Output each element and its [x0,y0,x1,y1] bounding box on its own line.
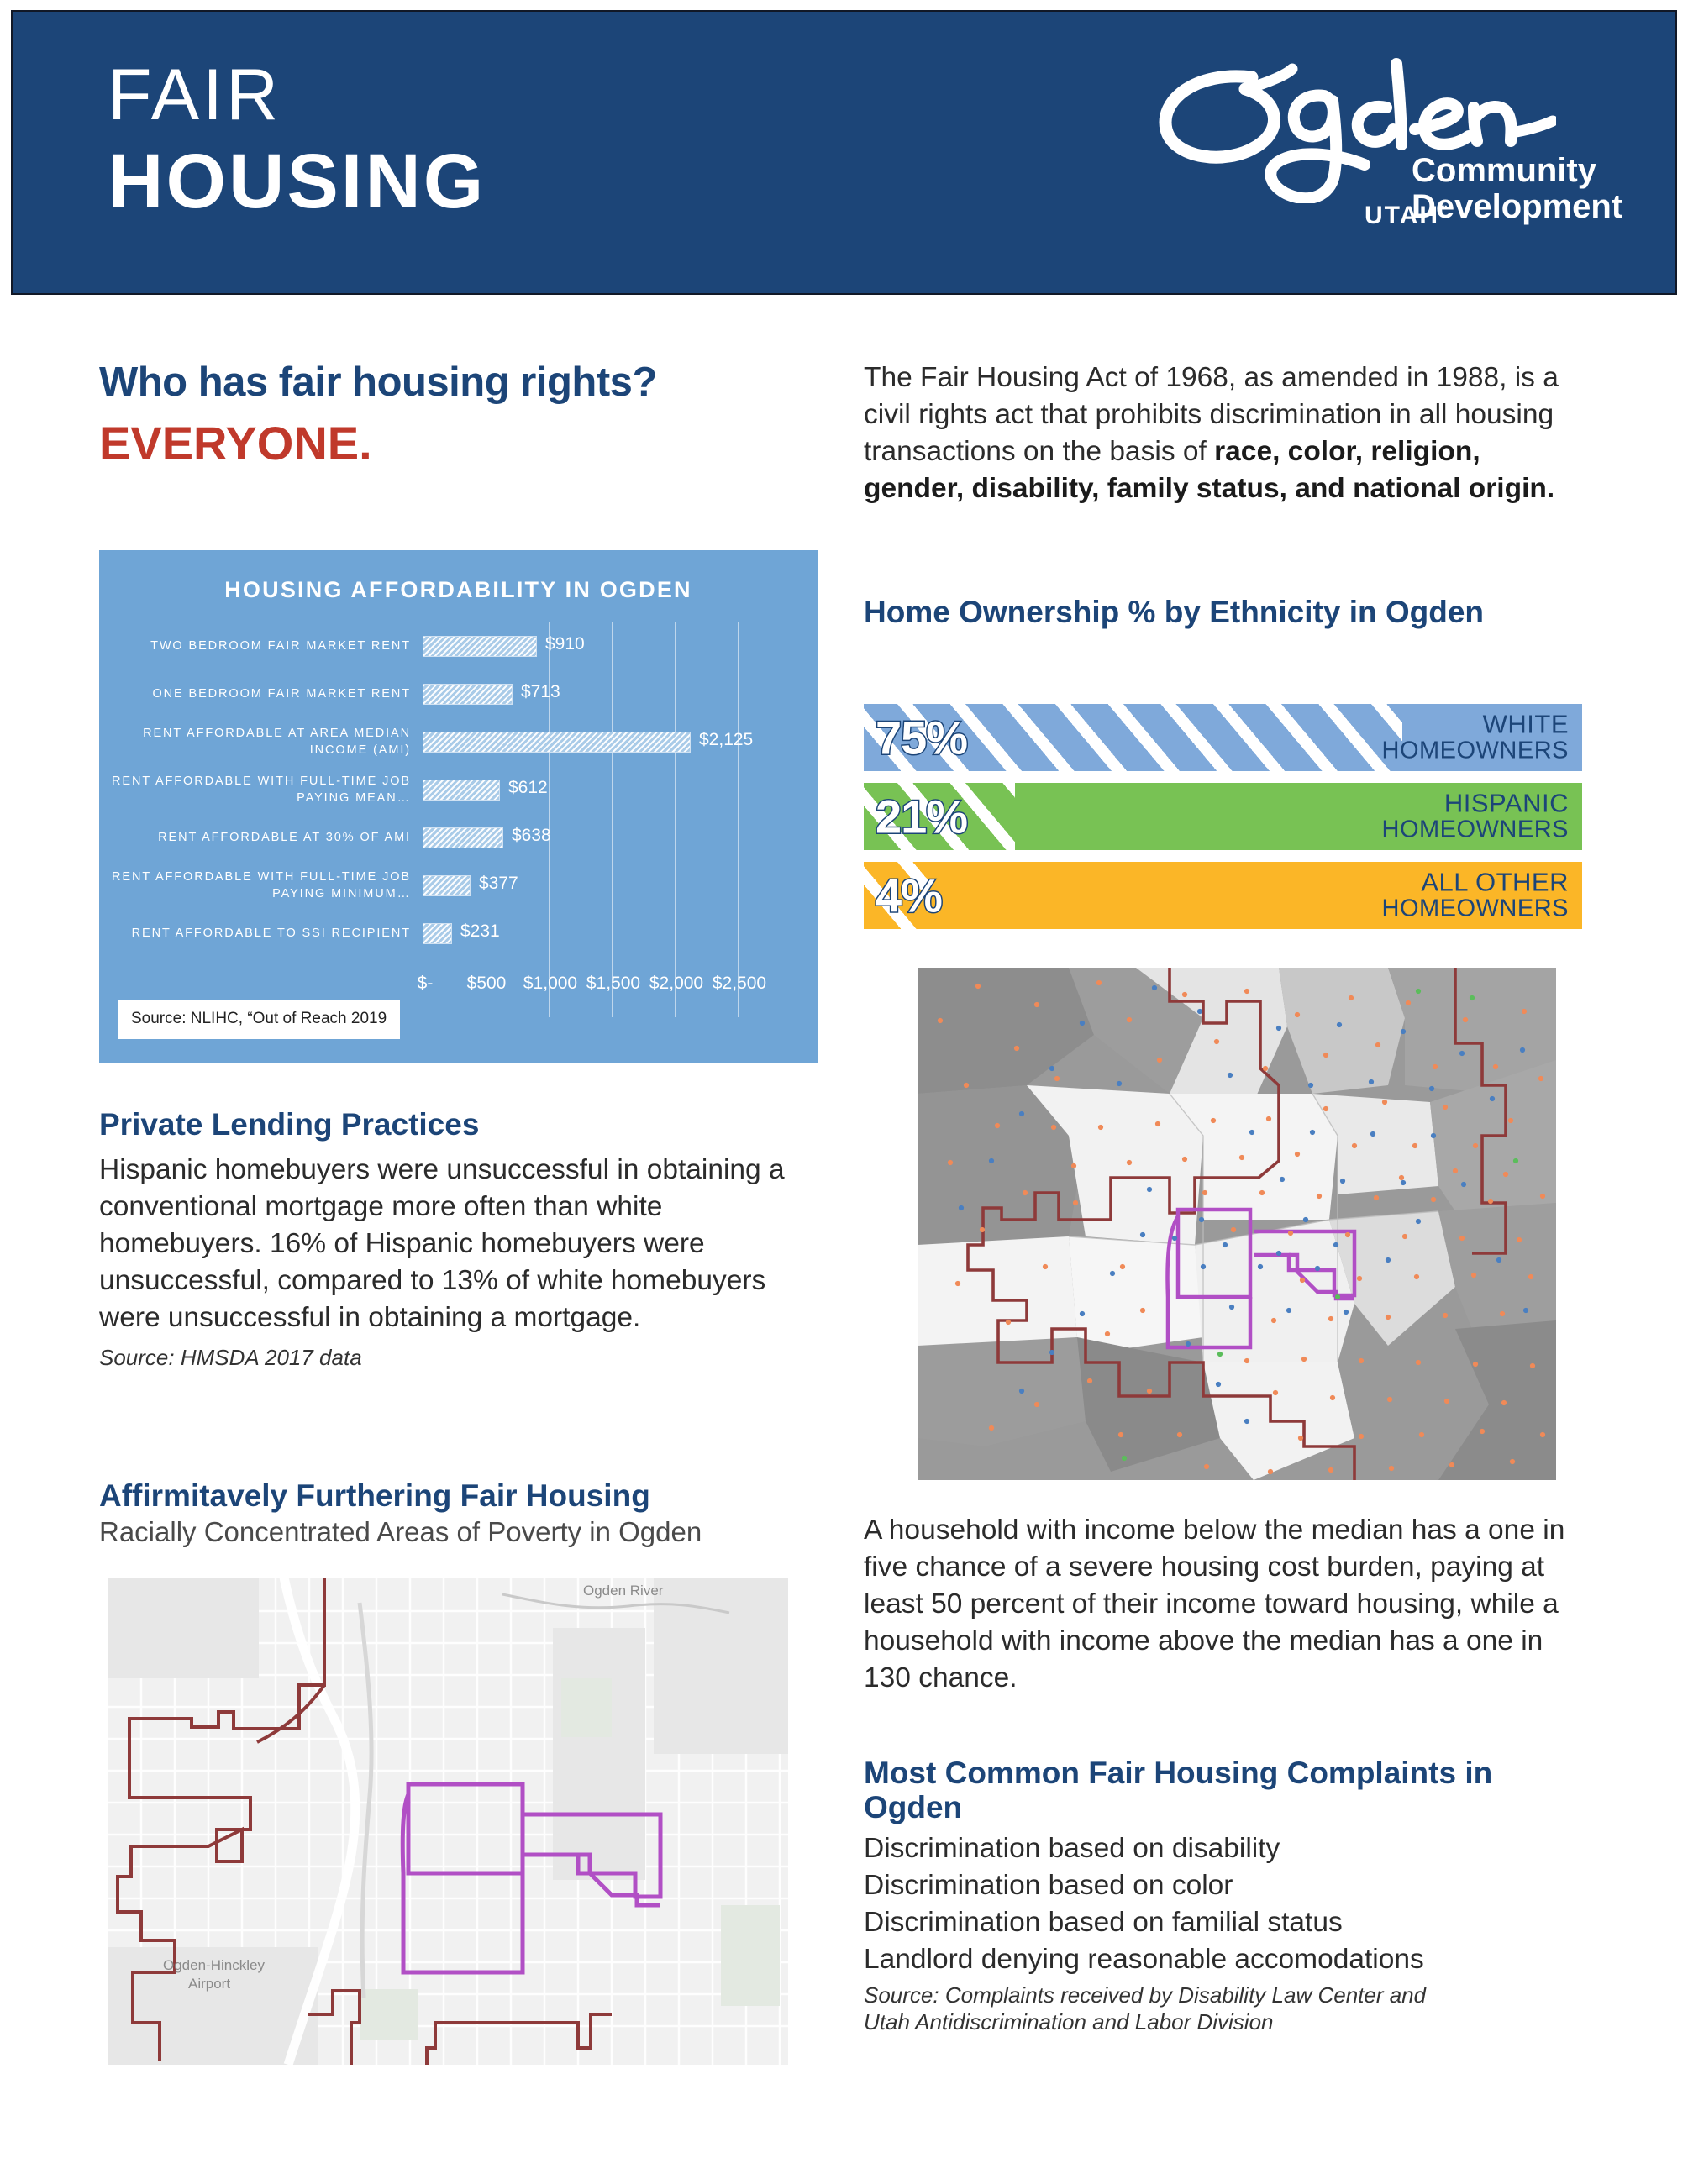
fair-housing-act-intro: The Fair Housing Act of 1968, as amended… [864,360,1586,507]
home-ownership-chart: 75% WHITE HOMEOWNERS 21% HISPANIC HOMEOW… [864,704,1582,941]
private-lending-section: Private Lending Practices Hispanic homeb… [99,1107,809,1372]
chart-row: RENT AFFORDABLE AT AREA MEDIAN INCOME (A… [99,718,818,766]
racially-concentrated-poverty-map[interactable]: Ogden-Hinckley Airport Ogden River [108,1578,788,2065]
list-item: Discrimination based on disability [864,1830,1595,1867]
chart-value-label: $231 [460,921,500,942]
complaints-heading: Most Common Fair Housing Complaints in O… [864,1756,1595,1825]
ownership-label-all-other-line2: HOMEOWNERS [1382,896,1570,922]
home-ownership-heading: Home Ownership % by Ethnicity in Ogden [864,595,1502,629]
complaints-source-line1: Source: Complaints received by Disabilit… [864,1982,1595,2009]
intro-paragraph: The Fair Housing Act of 1968, as amended… [864,360,1586,507]
cost-burden-body: A household with income below the median… [864,1512,1586,1696]
chart-value-label: $713 [521,682,560,702]
chart-row: TWO BEDROOM FAIR MARKET RENT $910 [99,622,818,670]
header-title-line2: HOUSING [108,143,486,220]
page-header: FAIR HOUSING [11,10,1677,295]
chart-row: RENT AFFORDABLE TO SSI RECIPIENT $231 [99,910,818,958]
ogden-community-development-logo: UTAH™ Community Development [1144,52,1615,262]
ownership-label-white: WHITE HOMEOWNERS [1382,711,1570,765]
chart-category-label: RENT AFFORDABLE AT 30% OF AMI [99,830,423,847]
logo-dept-line1: Community [1412,153,1622,189]
ownership-bar-all-other: 4% ALL OTHER HOMEOWNERS [864,862,1582,929]
rights-question: Who has fair housing rights? [99,361,813,404]
affh-subheading: Racially Concentrated Areas of Poverty i… [99,1516,822,1548]
chart-xtick-label: $- [418,974,434,994]
ownership-pct-white: 75% [876,711,967,765]
header-title-line1: FAIR [108,59,486,131]
chart-category-label: TWO BEDROOM FAIR MARKET RENT [99,638,423,655]
complaints-source-line2: Utah Antidiscrimination and Labor Divisi… [864,2009,1595,2036]
chart-value-label: $2,125 [699,730,753,750]
home-ownership-heading-block: Home Ownership % by Ethnicity in Ogden [864,595,1502,629]
chart-xtick-label: $500 [467,974,507,994]
private-lending-heading: Private Lending Practices [99,1107,809,1142]
chart-xtick-label: $1,000 [523,974,577,994]
chart-category-label: RENT AFFORDABLE TO SSI RECIPIENT [99,926,423,942]
map-label-airport: Ogden-Hinckley [163,1957,265,1974]
chart-bar [423,923,452,944]
infographic-page: FAIR HOUSING [0,0,1688,2184]
chart-row: RENT AFFORDABLE WITH FULL-TIME JOB PAYIN… [99,766,818,814]
chart-row: RENT AFFORDABLE WITH FULL-TIME JOB PAYIN… [99,862,818,910]
chart-value-label: $612 [508,778,548,798]
chart-bar [423,732,691,753]
chart-bar [423,684,513,705]
chart-xtick-label: $2,500 [713,974,766,994]
chart-category-label: ONE BEDROOM FAIR MARKET RENT [99,686,423,703]
header-title-block: FAIR HOUSING [108,59,486,220]
ownership-label-all-other: ALL OTHER HOMEOWNERS [1382,869,1570,923]
map-label-river: Ogden River [583,1583,663,1599]
cost-burden-section: A household with income below the median… [864,1512,1586,1696]
chart-row: ONE BEDROOM FAIR MARKET RENT $713 [99,670,818,718]
housing-affordability-chart: HOUSING AFFORDABILITY IN OGDEN TWO BEDRO… [99,550,818,1063]
chart-category-label: RENT AFFORDABLE WITH FULL-TIME JOB PAYIN… [99,869,423,902]
chart-x-axis: $- $500 $1,000 $1,500 $2,000 $2,500 [423,974,818,1007]
chart-bar [423,827,503,848]
chart-bar [423,636,537,657]
ownership-label-hispanic-line1: HISPANIC [1382,790,1570,817]
map-label-airport-line2: Airport [188,1976,230,1992]
list-item: Landlord denying reasonable accomodation… [864,1941,1595,1978]
map-right-graphic [918,968,1556,1480]
ownership-pct-all-other: 4% [876,869,942,923]
list-item: Discrimination based on familial status [864,1904,1595,1941]
ownership-bar-hispanic: 21% HISPANIC HOMEOWNERS [864,783,1582,850]
chart-title: HOUSING AFFORDABILITY IN OGDEN [99,550,818,603]
ownership-bar-white: 75% WHITE HOMEOWNERS [864,704,1582,771]
ownership-label-hispanic-line2: HOMEOWNERS [1382,817,1570,843]
chart-bar [423,875,471,896]
chart-value-label: $638 [512,826,551,846]
ownership-label-white-line2: HOMEOWNERS [1382,738,1570,764]
chart-rows: TWO BEDROOM FAIR MARKET RENT $910 ONE BE… [99,622,818,958]
chart-source-note: Source: NLIHC, “Out of Reach 2019 [118,1000,400,1039]
list-item: Discrimination based on color [864,1867,1595,1904]
rights-question-block: Who has fair housing rights? EVERYONE. [99,361,813,470]
chart-row: RENT AFFORDABLE AT 30% OF AMI $638 [99,814,818,862]
chart-plot-area: TWO BEDROOM FAIR MARKET RENT $910 ONE BE… [99,622,818,1017]
ownership-label-all-other-line1: ALL OTHER [1382,869,1570,896]
chart-xtick-label: $2,000 [649,974,703,994]
affh-heading: Affirmitavely Furthering Fair Housing [99,1478,822,1513]
chart-category-label: RENT AFFORDABLE WITH FULL-TIME JOB PAYIN… [99,774,423,806]
chart-category-label: RENT AFFORDABLE AT AREA MEDIAN INCOME (A… [99,726,423,759]
chart-bar [423,780,500,801]
affh-section-heading: Affirmitavely Furthering Fair Housing Ra… [99,1478,822,1548]
housing-cost-burden-dot-map[interactable] [918,968,1556,1480]
private-lending-source: Source: HMSDA 2017 data [99,1345,809,1372]
logo-department-text: Community Development [1412,153,1622,225]
complaints-section: Most Common Fair Housing Complaints in O… [864,1756,1595,2036]
complaints-list: Discrimination based on disability Discr… [864,1830,1595,1978]
chart-value-label: $910 [545,634,585,654]
logo-dept-line2: Development [1412,189,1622,225]
ownership-label-hispanic: HISPANIC HOMEOWNERS [1382,790,1570,844]
ownership-label-white-line1: WHITE [1382,711,1570,738]
ownership-pct-hispanic: 21% [876,790,967,844]
rights-answer: EVERYONE. [99,416,813,470]
chart-value-label: $377 [479,874,518,894]
chart-xtick-label: $1,500 [586,974,640,994]
private-lending-body: Hispanic homebuyers were unsuccessful in… [99,1152,809,1336]
